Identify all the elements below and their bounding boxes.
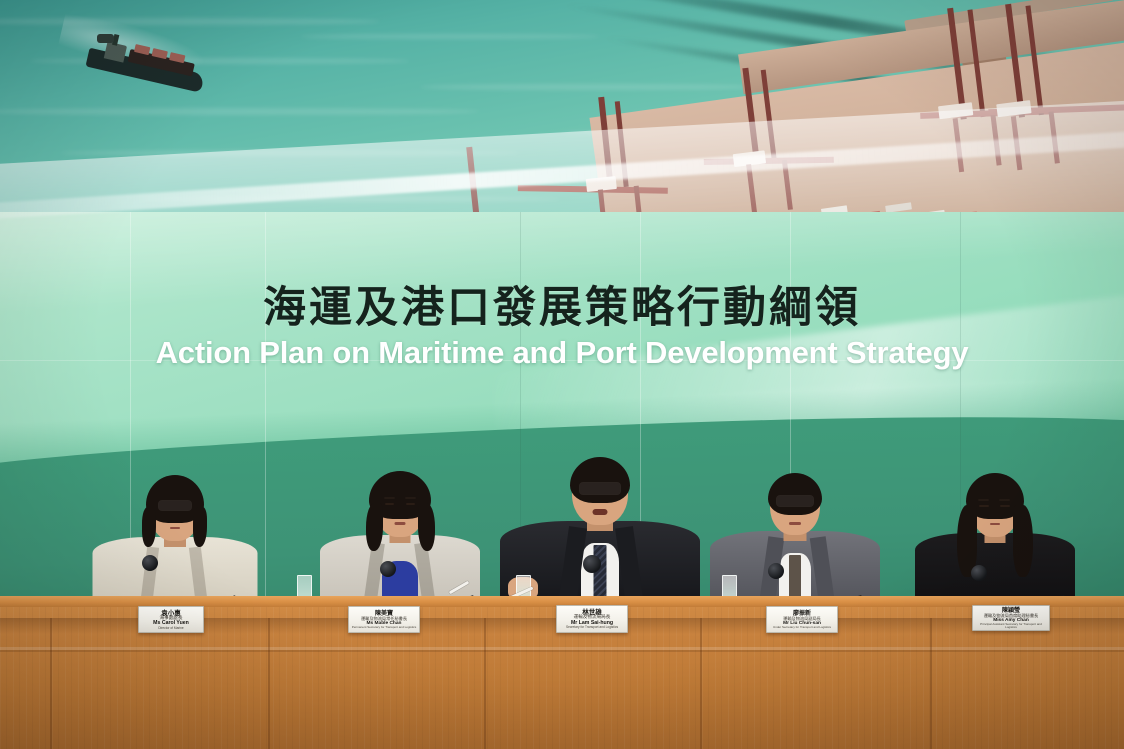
nameplate-amy-chan: 陳穎瑩 運輸及物流局首席助理秘書長 Miss Amy Chan Principa… xyxy=(972,605,1050,631)
necktie xyxy=(789,555,801,599)
nameplate-title-en: Principal Assistant Secretary for Transp… xyxy=(975,623,1047,629)
press-conference-scene: 海運及港口發展策略行動綱領 Action Plan on Maritime an… xyxy=(0,0,1124,749)
speaker-hair xyxy=(768,473,822,515)
open-mouth xyxy=(593,509,608,515)
nameplate-title-en: Director of Marine xyxy=(158,627,183,630)
nameplate-mable-chan: 陳美寶 運輸及物流局常任秘書長 Ms Mable Chan Permanent … xyxy=(348,606,420,633)
nameplate-carol-yuen: 袁小惠 海事處處長 Ms Carol Yuen Director of Mari… xyxy=(138,606,204,633)
speaker-hair xyxy=(570,457,630,503)
nameplate-title-en: Secretary for Transport and Logistics xyxy=(566,626,618,629)
eyeglasses xyxy=(776,495,814,507)
speaker-carol-yuen xyxy=(92,474,257,599)
eyeglasses xyxy=(158,500,192,511)
eyeglasses xyxy=(579,482,621,495)
nameplate-liu-chun-san: 廖振新 運輸及物流局副局長 Mr Liu Chun-san Under Secr… xyxy=(766,606,838,633)
speaker-mable-chan xyxy=(320,469,480,599)
nameplate-lam-sai-hung: 林世雄 運輸及物流局局長 Mr Lam Sai-hung Secretary f… xyxy=(556,605,628,633)
speaker-amy-chan xyxy=(915,469,1075,599)
nameplate-title-en: Permanent Secretary for Transport and Lo… xyxy=(352,626,417,629)
nameplate-title-en: Under Secretary for Transport and Logist… xyxy=(773,626,831,629)
tugboat xyxy=(97,34,114,43)
